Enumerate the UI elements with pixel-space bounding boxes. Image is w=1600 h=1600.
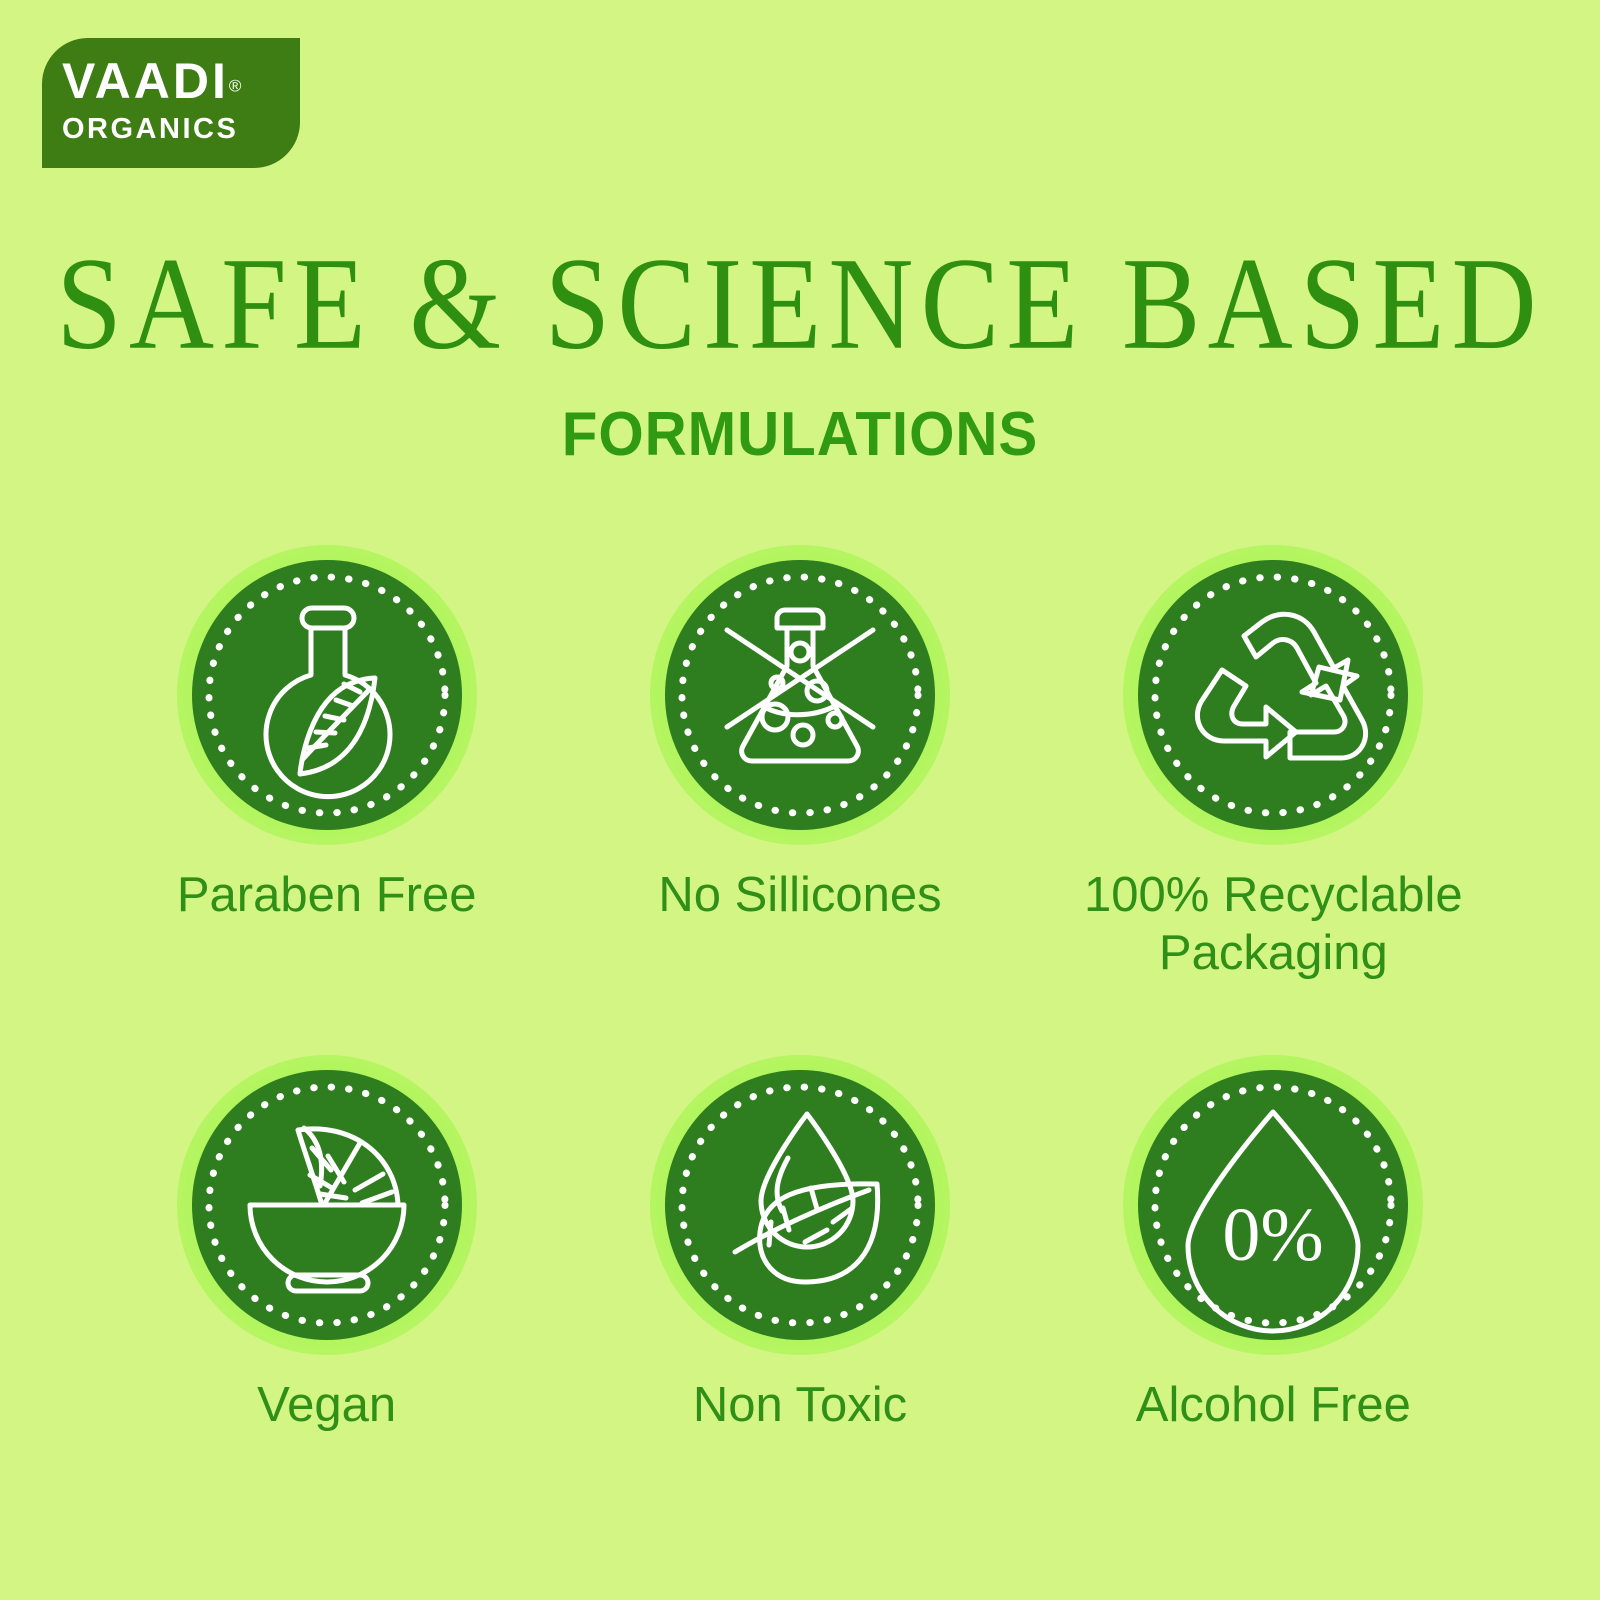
registered-trademark-icon: ® (229, 77, 242, 96)
badge-label: No Sillicones (658, 867, 941, 925)
badge-circle (650, 545, 950, 845)
badge-circle (177, 1055, 477, 1355)
brand-tagline: ORGANICS (62, 115, 300, 144)
badge-disc: 0% (1138, 1070, 1408, 1340)
droplet-leaf-icon (665, 1070, 935, 1340)
feature-badge-non-toxic: Non Toxic (563, 1055, 1036, 1435)
brand-name-row: VAADI® (62, 56, 300, 106)
badge-circle (177, 545, 477, 845)
badge-label: Non Toxic (693, 1377, 907, 1435)
feature-badge-paraben-free: Paraben Free (90, 545, 563, 983)
badge-label: Paraben Free (177, 867, 477, 925)
badge-disc (665, 1070, 935, 1340)
badge-circle (1123, 545, 1423, 845)
badge-label: Alcohol Free (1136, 1377, 1411, 1435)
badge-disc (192, 560, 462, 830)
flask-leaf-icon (192, 560, 462, 830)
badge-circle: 0% (1123, 1055, 1423, 1355)
brand-name: VAADI (62, 56, 229, 106)
page-subtitle: FORMULATIONS (48, 404, 1552, 466)
zero-percent-label: 0% (1223, 1193, 1324, 1277)
badge-disc (665, 560, 935, 830)
badge-label: 100% Recyclable Packaging (1063, 867, 1483, 983)
page-title: SAFE & SCIENCE BASED (0, 238, 1600, 370)
feature-badge-vegan: Vegan (90, 1055, 563, 1435)
feature-badge-recyclable-packaging: 100% Recyclable Packaging (1037, 545, 1510, 983)
brand-logo: VAADI® ORGANICS (42, 38, 300, 168)
bowl-leaf-icon (192, 1070, 462, 1340)
droplet-zero-percent-icon: 0% (1138, 1070, 1408, 1340)
feature-badge-no-sillicones: No Sillicones (563, 545, 1036, 983)
badge-disc (1138, 560, 1408, 830)
feature-badge-alcohol-free: 0% Alcohol Free (1037, 1055, 1510, 1435)
no-silicones-flask-icon (665, 560, 935, 830)
badge-label: Vegan (257, 1377, 396, 1435)
badge-circle (650, 1055, 950, 1355)
badge-disc (192, 1070, 462, 1340)
feature-badge-grid: Paraben Free (90, 545, 1510, 1434)
recycle-icon (1138, 560, 1408, 830)
